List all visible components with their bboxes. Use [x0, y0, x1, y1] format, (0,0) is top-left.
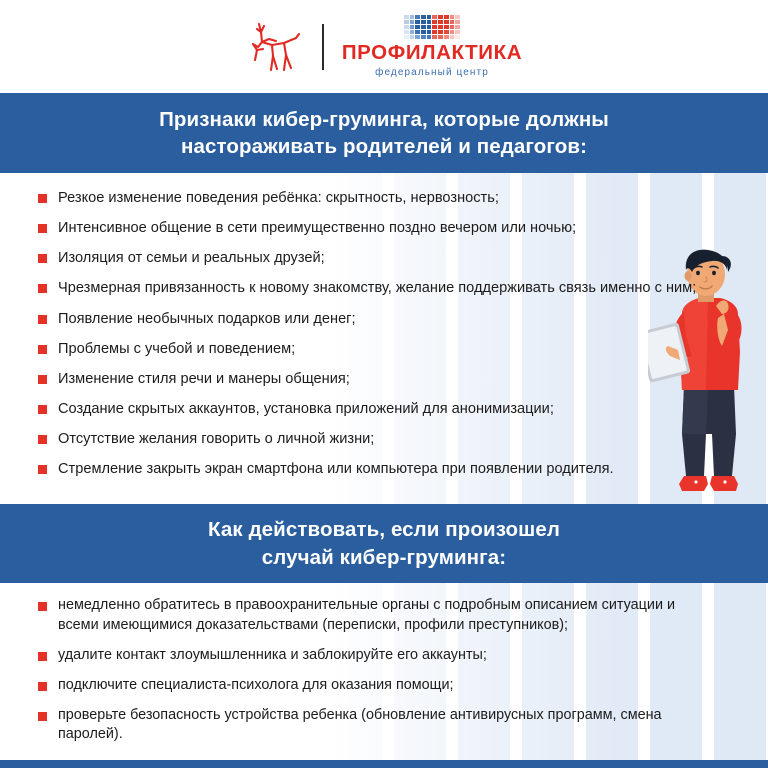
list-item: Изменение стиля речи и манеры общения; — [38, 369, 710, 389]
list-item: Изоляция от семьи и реальных друзей; — [38, 248, 710, 268]
square-bullet-icon — [38, 682, 47, 691]
square-bullet-icon — [38, 602, 47, 611]
list-item: немедленно обратитесь в правоохранительн… — [38, 596, 710, 636]
square-bullet-icon — [38, 712, 47, 721]
list-item: Создание скрытых аккаунтов, установка пр… — [38, 399, 710, 419]
list-item: подключите специалиста-психолога для ока… — [38, 676, 710, 696]
list-item: Отсутствие желания говорить о личной жиз… — [38, 429, 710, 449]
section1-header-band: Признаки кибер-груминга, которые должны … — [0, 93, 768, 173]
list-item-label: Изменение стиля речи и манеры общения; — [58, 369, 350, 389]
poster-root: ПРОФИЛАКТИКА федеральный центр — [0, 0, 768, 768]
list-item-label: удалите контакт злоумышленника и заблоки… — [58, 646, 487, 666]
list-item-label: немедленно обратитесь в правоохранительн… — [58, 596, 710, 636]
list-item: Стремление закрыть экран смартфона или к… — [38, 459, 710, 479]
list-item: Интенсивное общение в сети преимуществен… — [38, 218, 710, 238]
brand-name: ПРОФИЛАКТИКА — [342, 43, 522, 64]
square-bullet-icon — [38, 405, 47, 414]
section1-bullet-list: Резкое изменение поведения ребёнка: скры… — [38, 188, 710, 489]
list-item: Чрезмерная привязанность к новому знаком… — [38, 278, 710, 298]
section1-heading-line2: настораживать родителей и педагогов: — [181, 133, 587, 160]
list-item: удалите контакт злоумышленника и заблоки… — [38, 646, 710, 666]
brand-header: ПРОФИЛАКТИКА федеральный центр — [0, 0, 768, 93]
list-item-label: Интенсивное общение в сети преимуществен… — [58, 218, 576, 238]
square-bullet-icon — [38, 375, 47, 384]
square-bullet-icon — [38, 465, 47, 474]
section2-header-band: Как действовать, если произошел случай к… — [0, 504, 768, 583]
square-bullet-icon — [38, 652, 47, 661]
logo-divider — [322, 24, 324, 70]
list-item-label: Создание скрытых аккаунтов, установка пр… — [58, 399, 554, 419]
list-item: Проблемы с учебой и поведением; — [38, 339, 710, 359]
list-item: Появление необычных подарков или денег; — [38, 309, 710, 329]
bottom-blue-strip — [0, 760, 768, 768]
list-item-label: Проблемы с учебой и поведением; — [58, 339, 295, 359]
section2-heading-line2: случай кибер-груминга: — [262, 544, 506, 571]
square-bullet-icon — [38, 284, 47, 293]
brand-text-block: ПРОФИЛАКТИКА федеральный центр — [342, 15, 522, 78]
list-item-label: Отсутствие желания говорить о личной жиз… — [58, 429, 374, 449]
square-bullet-icon — [38, 224, 47, 233]
brand-subtitle: федеральный центр — [375, 68, 489, 78]
square-bullet-icon — [38, 254, 47, 263]
brand-header-inner: ПРОФИЛАКТИКА федеральный центр — [246, 15, 522, 78]
deer-line-art-icon — [246, 20, 304, 74]
list-item-label: Резкое изменение поведения ребёнка: скры… — [58, 188, 499, 208]
section2-heading-line1: Как действовать, если произошел — [208, 516, 560, 543]
square-bullet-icon — [38, 315, 47, 324]
list-item-label: Появление необычных подарков или денег; — [58, 309, 356, 329]
square-bullet-icon — [38, 345, 47, 354]
list-item: проверьте безопасность устройства ребенк… — [38, 706, 710, 746]
list-item-label: Чрезмерная привязанность к новому знаком… — [58, 278, 696, 298]
list-item-label: Изоляция от семьи и реальных друзей; — [58, 248, 325, 268]
square-bullet-icon — [38, 194, 47, 203]
section2-bullet-list: немедленно обратитесь в правоохранительн… — [38, 596, 710, 755]
list-item-label: Стремление закрыть экран смартфона или к… — [58, 459, 614, 479]
pixel-grid-icon — [404, 15, 460, 39]
square-bullet-icon — [38, 435, 47, 444]
list-item-label: подключите специалиста-психолога для ока… — [58, 676, 454, 696]
list-item-label: проверьте безопасность устройства ребенк… — [58, 706, 710, 746]
section1-heading-line1: Признаки кибер-груминга, которые должны — [159, 106, 609, 133]
list-item: Резкое изменение поведения ребёнка: скры… — [38, 188, 710, 208]
